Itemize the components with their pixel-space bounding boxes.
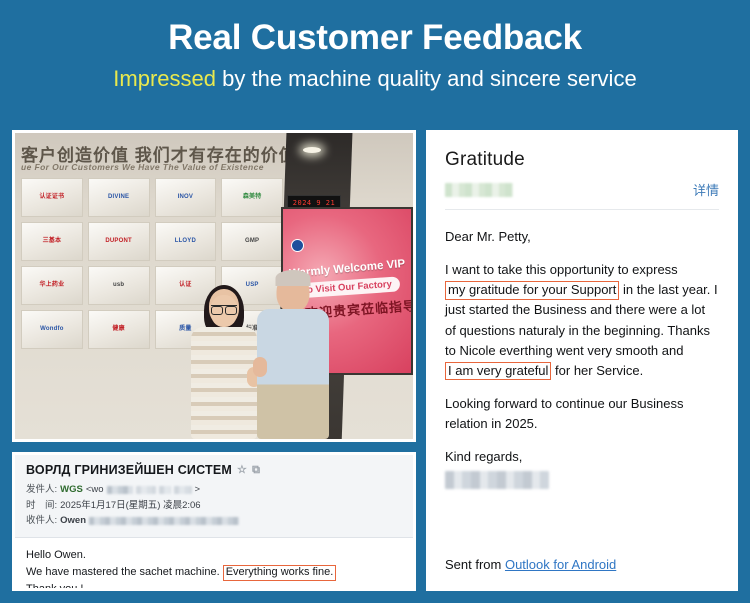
body-line-2: We have mastered the sachet machine. Eve… — [26, 564, 402, 581]
plaque: 健康 — [88, 310, 150, 349]
content-area: 客户创造价值 我们才有存在的价值 ue For Our Customers We… — [12, 130, 738, 591]
body-line-2-text: We have mastered the sachet machine. — [26, 566, 220, 578]
torso — [257, 309, 329, 439]
left-column: 客户创造价值 我们才有存在的价值 ue For Our Customers We… — [12, 130, 416, 591]
plaque: 认证证书 — [21, 178, 83, 217]
meta-row-date: 时 间: 2025年1月17日(星期五) 凌晨2:06 — [26, 498, 402, 514]
star-icon[interactable]: ☆ — [237, 465, 247, 476]
details-link[interactable]: 详情 — [693, 180, 719, 199]
outlook-for-android-link[interactable]: Outlook for Android — [505, 557, 616, 572]
thumbs-up-hand — [253, 357, 267, 377]
closing-text: Kind regards, — [445, 449, 522, 464]
recipient-value: Owen — [60, 513, 86, 529]
plaque: DIVINE — [88, 178, 150, 217]
highlight-my-gratitude: my gratitude for your Support — [445, 281, 619, 299]
email-subject-cn: ВОРЛД ГРИНИЗЕЙШЕН СИСТЕМ ☆ ⧉ — [26, 463, 402, 477]
body-line-1: Hello Owen. — [26, 547, 402, 564]
copy-icon[interactable]: ⧉ — [252, 465, 260, 476]
plaque: 森美特 — [221, 178, 283, 217]
sender-email-prefix: <wo — [86, 482, 104, 498]
email-body-cn: Hello Owen. We have mastered the sachet … — [15, 538, 413, 591]
factory-photo: 客户创造价值 我们才有存在的价值 ue For Our Customers We… — [15, 133, 413, 439]
subtitle-highlight: Impressed — [113, 66, 216, 91]
page-title: Real Customer Feedback — [0, 18, 750, 58]
para1-part-a: I want to take this opportunity to expre… — [445, 262, 678, 277]
paragraph-2: Looking forward to continue our Business… — [445, 394, 719, 434]
wall-slogan-en: ue For Our Customers We Have The Value o… — [21, 162, 264, 172]
factory-photo-card: 客户创造价值 我们才有存在的价值 ue For Our Customers We… — [12, 130, 416, 442]
plaque: Wondfo — [21, 310, 83, 349]
email-subject-text: ВОРЛД ГРИНИЗЕЙШЕН СИСТЕМ — [26, 463, 232, 477]
plaque: INOV — [155, 178, 217, 217]
redacted-signature — [445, 471, 549, 489]
glasses-icon — [211, 305, 237, 312]
sender-label: 发件人: — [26, 482, 57, 498]
closing: Kind regards, — [445, 447, 719, 489]
poster-root: Real Customer Feedback Impressed by the … — [0, 0, 750, 603]
plaque: DUPONT — [88, 222, 150, 261]
company-logo-icon — [291, 239, 304, 252]
sender-email-suffix: > — [195, 482, 201, 498]
email-subject-en: Gratitude — [445, 149, 719, 171]
redacted-email-part — [174, 486, 192, 494]
date-value: 2025年1月17日(星期五) 凌晨2:06 — [60, 498, 200, 514]
redacted-email-part — [136, 486, 156, 494]
person-customer-right — [251, 273, 335, 439]
redacted-email-part — [159, 486, 171, 494]
email-footer-en: Sent from Outlook for Android — [445, 557, 719, 576]
body-line-3: Thank you ! — [26, 581, 402, 591]
sender-name: WGS — [60, 482, 83, 498]
subtitle-rest: by the machine quality and sincere servi… — [216, 66, 637, 91]
plaque: GMP — [221, 222, 283, 261]
highlight-very-grateful: I am very grateful — [445, 362, 551, 380]
paragraph-1: I want to take this opportunity to expre… — [445, 260, 719, 381]
sent-from-label: Sent from — [445, 557, 505, 572]
right-column: Gratitude 详情 Dear Mr. Petty, I want to t… — [426, 130, 738, 591]
para1-part-c: for her Service. — [551, 363, 643, 378]
email-sender-row-en: 详情 — [445, 180, 719, 210]
plaque: usb — [88, 266, 150, 305]
redacted-sender-name — [445, 183, 513, 197]
email-body-en: Dear Mr. Petty, I want to take this oppo… — [445, 227, 719, 557]
email-card-cn: ВОРЛД ГРИНИЗЕЙШЕН СИСТЕМ ☆ ⧉ 发件人: WGS <w… — [12, 452, 416, 591]
plaque: 三基本 — [21, 222, 83, 261]
redacted-recipient-email — [89, 517, 239, 525]
ceiling-light — [303, 147, 321, 153]
date-label: 时 间: — [26, 498, 57, 514]
meta-row-sender: 发件人: WGS <wo > — [26, 482, 402, 498]
hair — [276, 270, 311, 286]
plaque: 华上药业 — [21, 266, 83, 305]
email-meta-cn: 发件人: WGS <wo > 时 间: 2025年1月17日(星期五) 凌晨2:… — [26, 482, 402, 529]
greeting: Dear Mr. Petty, — [445, 227, 719, 247]
email-card-en: Gratitude 详情 Dear Mr. Petty, I want to t… — [426, 130, 738, 591]
meta-row-recipient: 收件人: Owen — [26, 513, 402, 529]
recipient-label: 收件人: — [26, 513, 57, 529]
highlight-everything-works-fine: Everything works fine. — [223, 565, 337, 581]
page-subtitle: Impressed by the machine quality and sin… — [0, 66, 750, 92]
header: Real Customer Feedback Impressed by the … — [0, 0, 750, 93]
redacted-email-part — [107, 486, 133, 494]
plaque: LLOYD — [155, 222, 217, 261]
email-header-cn: ВОРЛД ГРИНИЗЕЙШЕН СИСТЕМ ☆ ⧉ 发件人: WGS <w… — [15, 455, 413, 538]
